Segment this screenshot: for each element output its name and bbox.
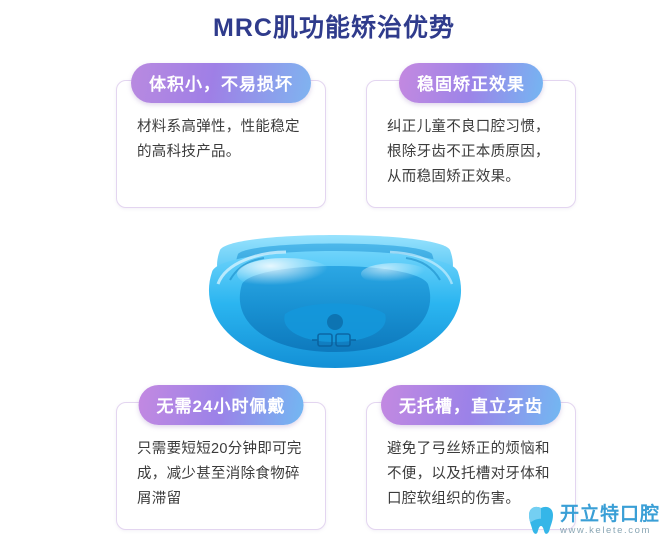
trainer-illustration xyxy=(190,222,480,382)
page-title: MRC肌功能矫治优势 xyxy=(0,8,668,44)
watermark-site: www.kelete.com xyxy=(560,525,660,537)
advantage-card-1-title-wrap: 体积小，不易损坏 xyxy=(131,63,311,103)
advantage-card-3-title-wrap: 无需24小时佩戴 xyxy=(139,385,304,425)
advantage-card-1: 体积小，不易损坏 材料系高弹性，性能稳定的高科技产品。 xyxy=(116,80,326,208)
watermark-brand: 开立特口腔 xyxy=(560,505,660,525)
product-image-trainer xyxy=(190,222,480,382)
advantage-card-3: 无需24小时佩戴 只需要短短20分钟即可完成，减少甚至消除食物碎屑滞留 xyxy=(116,402,326,530)
advantage-card-3-title: 无需24小时佩戴 xyxy=(139,385,304,425)
advantage-card-2-title-wrap: 稳固矫正效果 xyxy=(399,63,543,103)
advantage-card-1-body: 材料系高弹性，性能稳定的高科技产品。 xyxy=(137,115,307,165)
advantage-card-4-title-wrap: 无托槽，直立牙齿 xyxy=(381,385,561,425)
advantage-card-3-body: 只需要短短20分钟即可完成，减少甚至消除食物碎屑滞留 xyxy=(137,437,307,512)
advantage-card-1-title: 体积小，不易损坏 xyxy=(131,63,311,103)
advantage-card-2-body: 纠正儿童不良口腔习惯，根除牙齿不正本质原因，从而稳固矫正效果。 xyxy=(387,115,557,190)
advantage-card-4-body: 避免了弓丝矫正的烦恼和不便，以及托槽对牙体和口腔软组织的伤害。 xyxy=(387,437,557,512)
advantage-card-4-title: 无托槽，直立牙齿 xyxy=(381,385,561,425)
advantage-card-2: 稳固矫正效果 纠正儿童不良口腔习惯，根除牙齿不正本质原因，从而稳固矫正效果。 xyxy=(366,80,576,208)
advantage-card-2-title: 稳固矫正效果 xyxy=(399,63,543,103)
tooth-icon xyxy=(528,506,554,536)
watermark: 开立特口腔 www.kelete.com xyxy=(528,505,660,537)
page-root: MRC肌功能矫治优势 体积小，不易损坏 材料系高弹性，性能稳定的高科技产品。 稳… xyxy=(0,0,668,543)
